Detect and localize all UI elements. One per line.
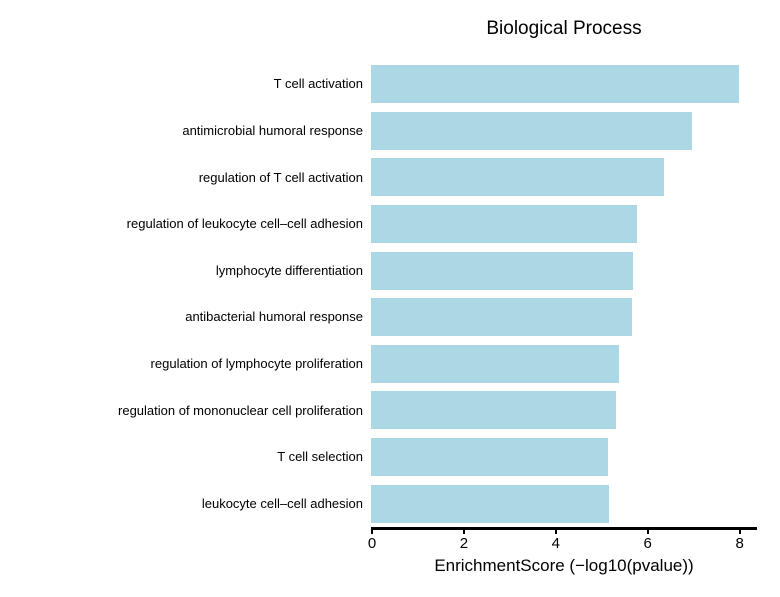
chart-title: Biological Process (371, 17, 757, 40)
x-axis-tick (647, 527, 649, 534)
category-label: T cell activation (0, 76, 363, 92)
x-axis-tick (463, 527, 465, 534)
category-label: leukocyte cell–cell adhesion (0, 496, 363, 512)
bar-row (371, 201, 757, 248)
bar (371, 158, 664, 196)
bar-row (371, 387, 757, 434)
bar (371, 345, 619, 383)
bar (371, 65, 739, 103)
category-axis-labels: T cell activationantimicrobial humoral r… (0, 61, 363, 527)
bar-row (371, 480, 757, 527)
bar-row (371, 294, 757, 341)
bar (371, 391, 616, 429)
category-label: regulation of lymphocyte proliferation (0, 356, 363, 372)
x-axis-tick (371, 527, 373, 534)
bar (371, 438, 608, 476)
category-label: lymphocyte differentiation (0, 263, 363, 279)
category-label: antimicrobial humoral response (0, 123, 363, 139)
x-axis-tick-label: 8 (720, 535, 760, 553)
plot-area (371, 61, 757, 527)
x-axis-tick (739, 527, 741, 534)
x-axis-tick-label: 0 (352, 535, 392, 553)
bar (371, 298, 632, 336)
x-axis-tick-label: 2 (444, 535, 484, 553)
category-label: T cell selection (0, 449, 363, 465)
bar (371, 112, 692, 150)
bar (371, 252, 633, 290)
x-axis-line (371, 527, 757, 530)
x-axis-tick (555, 527, 557, 534)
x-axis-title: EnrichmentScore (−log10(pvalue)) (371, 555, 757, 576)
bar-row (371, 341, 757, 388)
bar-row (371, 154, 757, 201)
bar-row (371, 434, 757, 481)
category-label: regulation of T cell activation (0, 170, 363, 186)
bar-row (371, 108, 757, 155)
bar-chart: Biological Process T cell activationanti… (0, 0, 780, 597)
bar (371, 485, 609, 523)
x-axis-tick-label: 6 (628, 535, 668, 553)
bar-row (371, 247, 757, 294)
category-label: regulation of leukocyte cell–cell adhesi… (0, 216, 363, 232)
category-label: antibacterial humoral response (0, 309, 363, 325)
bar-row (371, 61, 757, 108)
x-axis-tick-label: 4 (536, 535, 576, 553)
bar (371, 205, 637, 243)
category-label: regulation of mononuclear cell prolifera… (0, 403, 363, 419)
